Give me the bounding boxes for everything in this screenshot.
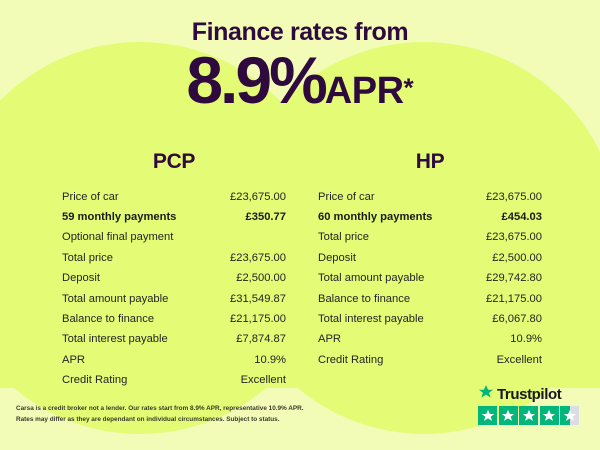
rating-star-icon [519,406,538,425]
trustpilot-star-icon [478,384,494,405]
row-value: £31,549.87 [230,294,286,305]
row-value: Excellent [241,375,286,386]
row-value: Excellent [497,355,542,366]
row-label: Total amount payable [318,273,424,284]
trustpilot-rating-stars [478,406,586,425]
rate-footnote-asterisk: * [404,73,414,103]
rating-star-icon [478,406,497,425]
column-title-hp: HP [318,150,542,174]
table-row: Total price £23,675.00 [62,248,286,268]
row-label: Total price [62,253,113,264]
table-row: Total interest payable £6,067.80 [318,309,542,329]
finance-column-pcp: PCP Price of car £23,675.00 59 monthly p… [62,150,286,391]
row-label: Total price [318,232,369,243]
table-row: Total price £23,675.00 [318,228,542,248]
finance-column-hp: HP Price of car £23,675.00 60 monthly pa… [318,150,542,371]
row-value: £454.03 [502,212,542,223]
trustpilot-header: Trustpilot [478,385,586,403]
table-row: Total amount payable £29,742.80 [318,269,542,289]
table-row: Balance to finance £21,175.00 [62,309,286,329]
disclaimer-line-2: Rates may differ as they are dependant o… [16,414,346,425]
hp-rows: Price of car £23,675.00 60 monthly payme… [318,187,542,371]
table-row: 59 monthly payments £350.77 [62,207,286,227]
row-label: 60 monthly payments [318,212,432,223]
table-row: Price of car £23,675.00 [62,187,286,207]
table-row: Credit Rating Excellent [318,350,542,370]
table-row: 60 monthly payments £454.03 [318,207,542,227]
table-row: Optional final payment [62,228,286,248]
headline-rate: 8.9%APR* [0,47,600,113]
row-value: £6,067.80 [492,314,542,325]
rate-value: 8.9% [186,43,324,117]
column-title-pcp: PCP [62,150,286,174]
row-value: 10.9% [254,355,286,366]
trustpilot-wordmark: Trustpilot [497,386,561,403]
row-value: £23,675.00 [486,232,542,243]
table-row: Deposit £2,500.00 [62,269,286,289]
row-label: Credit Rating [318,355,383,366]
rating-star-icon [499,406,518,425]
row-value: £21,175.00 [486,294,542,305]
table-row: Deposit £2,500.00 [318,248,542,268]
row-label: Price of car [62,192,119,203]
rating-star-icon [540,406,559,425]
row-label: Deposit [62,273,100,284]
row-value: £2,500.00 [236,273,286,284]
table-row: Total interest payable £7,874.87 [62,330,286,350]
row-label: Credit Rating [62,375,127,386]
row-label: APR [62,355,85,366]
table-row: APR 10.9% [318,330,542,350]
table-row: APR 10.9% [62,350,286,370]
row-label: Optional final payment [62,232,173,243]
pcp-rows: Price of car £23,675.00 59 monthly payme… [62,187,286,391]
disclaimer-line-1: Carsa is a credit broker not a lender. O… [16,403,346,414]
legal-disclaimer: Carsa is a credit broker not a lender. O… [16,403,346,425]
row-label: Balance to finance [62,314,154,325]
row-label: Total interest payable [62,334,168,345]
finance-rates-poster: Finance rates from 8.9%APR* PCP Price of… [0,0,600,450]
table-row: Balance to finance £21,175.00 [318,289,542,309]
row-value: £2,500.00 [492,253,542,264]
row-label: Total amount payable [62,294,168,305]
table-row: Credit Rating Excellent [62,371,286,391]
row-value: £23,675.00 [486,192,542,203]
row-label: Total interest payable [318,314,424,325]
row-label: Price of car [318,192,375,203]
row-value: £29,742.80 [486,273,542,284]
table-row: Price of car £23,675.00 [318,187,542,207]
row-label: Balance to finance [318,294,410,305]
row-value: £23,675.00 [230,192,286,203]
poster-content: Finance rates from 8.9%APR* PCP Price of… [0,0,600,450]
row-value: £21,175.00 [230,314,286,325]
row-label: Deposit [318,253,356,264]
row-value: £350.77 [246,212,286,223]
row-value: £7,874.87 [236,334,286,345]
row-value: 10.9% [510,334,542,345]
trustpilot-badge[interactable]: Trustpilot [478,385,586,425]
rating-star-half-icon [560,406,579,425]
row-label: APR [318,334,341,345]
table-row: Total amount payable £31,549.87 [62,289,286,309]
row-value: £23,675.00 [230,253,286,264]
rate-suffix: APR [325,70,404,112]
row-label: 59 monthly payments [62,212,176,223]
